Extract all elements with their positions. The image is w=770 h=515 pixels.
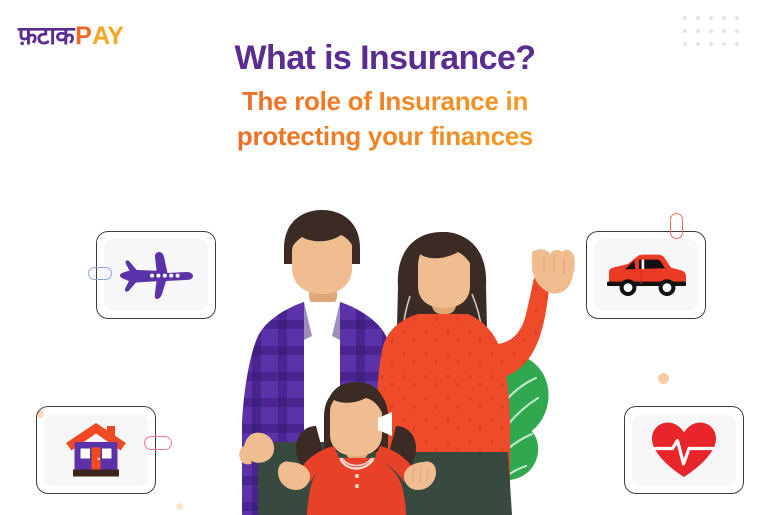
- scatter-dot: [658, 373, 669, 384]
- pink-paperclip-icon: [144, 436, 172, 450]
- insurance-card-health[interactable]: [624, 406, 744, 494]
- heartbeat-icon: [624, 406, 744, 494]
- grid-dot: [696, 16, 700, 20]
- grid-dot: [735, 29, 739, 33]
- grid-dot: [722, 16, 726, 20]
- blue-paperclip-icon: [88, 267, 112, 280]
- insurance-card-travel[interactable]: [96, 231, 216, 319]
- illustration-alt-text: Illustration of a family: father, mother…: [0, 0, 1, 1]
- house-icon: [36, 406, 156, 494]
- grid-dot: [683, 29, 687, 33]
- page-subtitle: The role of Insurance in protecting your…: [0, 84, 770, 154]
- subtitle-line-2: protecting your finances: [0, 119, 770, 154]
- scatter-dot: [176, 503, 183, 510]
- family-illustration: [200, 190, 590, 515]
- airplane-icon: [96, 231, 216, 319]
- headline-block: What is Insurance? The role of Insurance…: [0, 38, 770, 154]
- car-icon: [586, 231, 706, 319]
- subtitle-line-1: The role of Insurance in: [0, 84, 770, 119]
- grid-dot: [696, 29, 700, 33]
- red-paperclip-icon: [670, 213, 683, 239]
- poster-canvas: फ़टाक P AY What is Insurance? The role o…: [0, 0, 770, 515]
- grid-dot: [709, 29, 713, 33]
- grid-dot: [683, 16, 687, 20]
- grid-dot: [722, 29, 726, 33]
- grid-dot: [735, 16, 739, 20]
- page-title: What is Insurance?: [0, 38, 770, 78]
- grid-dot: [709, 16, 713, 20]
- insurance-card-home[interactable]: [36, 406, 156, 494]
- insurance-card-motor[interactable]: [586, 231, 706, 319]
